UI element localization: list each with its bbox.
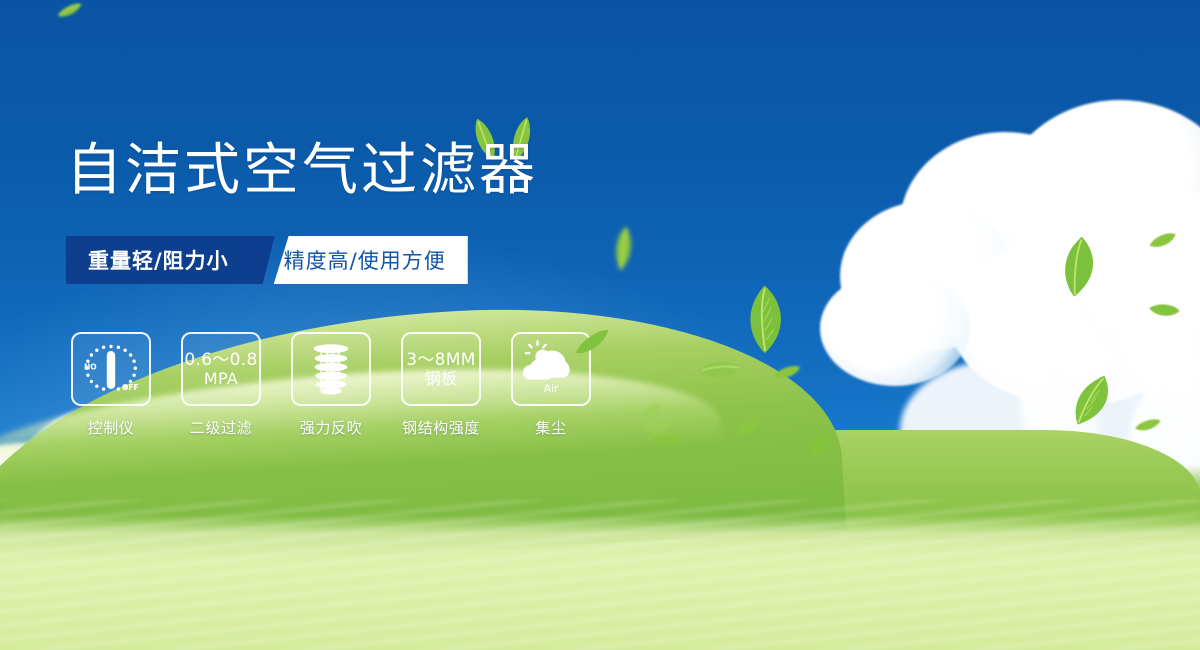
feature-item-controller[interactable]: NO OFF 控制仪 [66, 332, 156, 438]
banner-content: 自洁式空气过滤器 重量轻/阻力小 精度高/使用方便 [0, 0, 1200, 650]
subtitle-tag-primary: 重量轻/阻力小 [66, 236, 249, 284]
feature-value-line2: MPA [184, 370, 257, 388]
feature-item-dust-collection[interactable]: Air 集尘 [506, 332, 596, 438]
feature-item-backflush[interactable]: 强力反吹 [286, 332, 376, 438]
feature-value: 0.6～0.8 MPA [184, 351, 257, 388]
feature-icon-box: NO OFF [71, 332, 151, 406]
page-title: 自洁式空气过滤器 [66, 143, 538, 199]
product-banner: 自洁式空气过滤器 重量轻/阻力小 精度高/使用方便 [0, 0, 1200, 650]
feature-label: 控制仪 [88, 417, 135, 438]
feature-list: NO OFF 控制仪 0.6～0.8 MPA 二级过滤 [66, 332, 596, 438]
feature-item-steel-strength[interactable]: 3～8MM 钢板 钢结构强度 [396, 332, 486, 438]
feature-value-line1: 3～8MM [406, 350, 475, 370]
feature-icon-box: Air [511, 332, 591, 406]
subtitle-bar: 重量轻/阻力小 精度高/使用方便 [66, 236, 468, 284]
cloud-air-icon: Air [520, 340, 582, 398]
gauge-icon: NO OFF [79, 338, 143, 400]
feature-label: 强力反吹 [300, 417, 362, 438]
feature-value-line1: 0.6～0.8 [184, 350, 257, 370]
svg-text:Air: Air [544, 382, 559, 395]
feature-value-line2: 钢板 [406, 370, 475, 388]
feature-icon-box [291, 332, 371, 406]
feature-item-secondary-filter[interactable]: 0.6～0.8 MPA 二级过滤 [176, 332, 266, 438]
feature-label: 二级过滤 [190, 417, 252, 438]
feature-label: 钢结构强度 [402, 417, 480, 438]
feature-value: 3～8MM 钢板 [406, 351, 475, 388]
subtitle-tag-secondary: 精度高/使用方便 [274, 236, 468, 284]
svg-text:NO: NO [84, 363, 97, 372]
feature-icon-box: 0.6～0.8 MPA [181, 332, 261, 406]
feature-label: 集尘 [535, 417, 566, 438]
feature-icon-box: 3～8MM 钢板 [401, 332, 481, 406]
svg-text:OFF: OFF [122, 383, 139, 392]
filter-cartridge-icon [305, 341, 357, 397]
subtitle-divider [249, 236, 275, 284]
